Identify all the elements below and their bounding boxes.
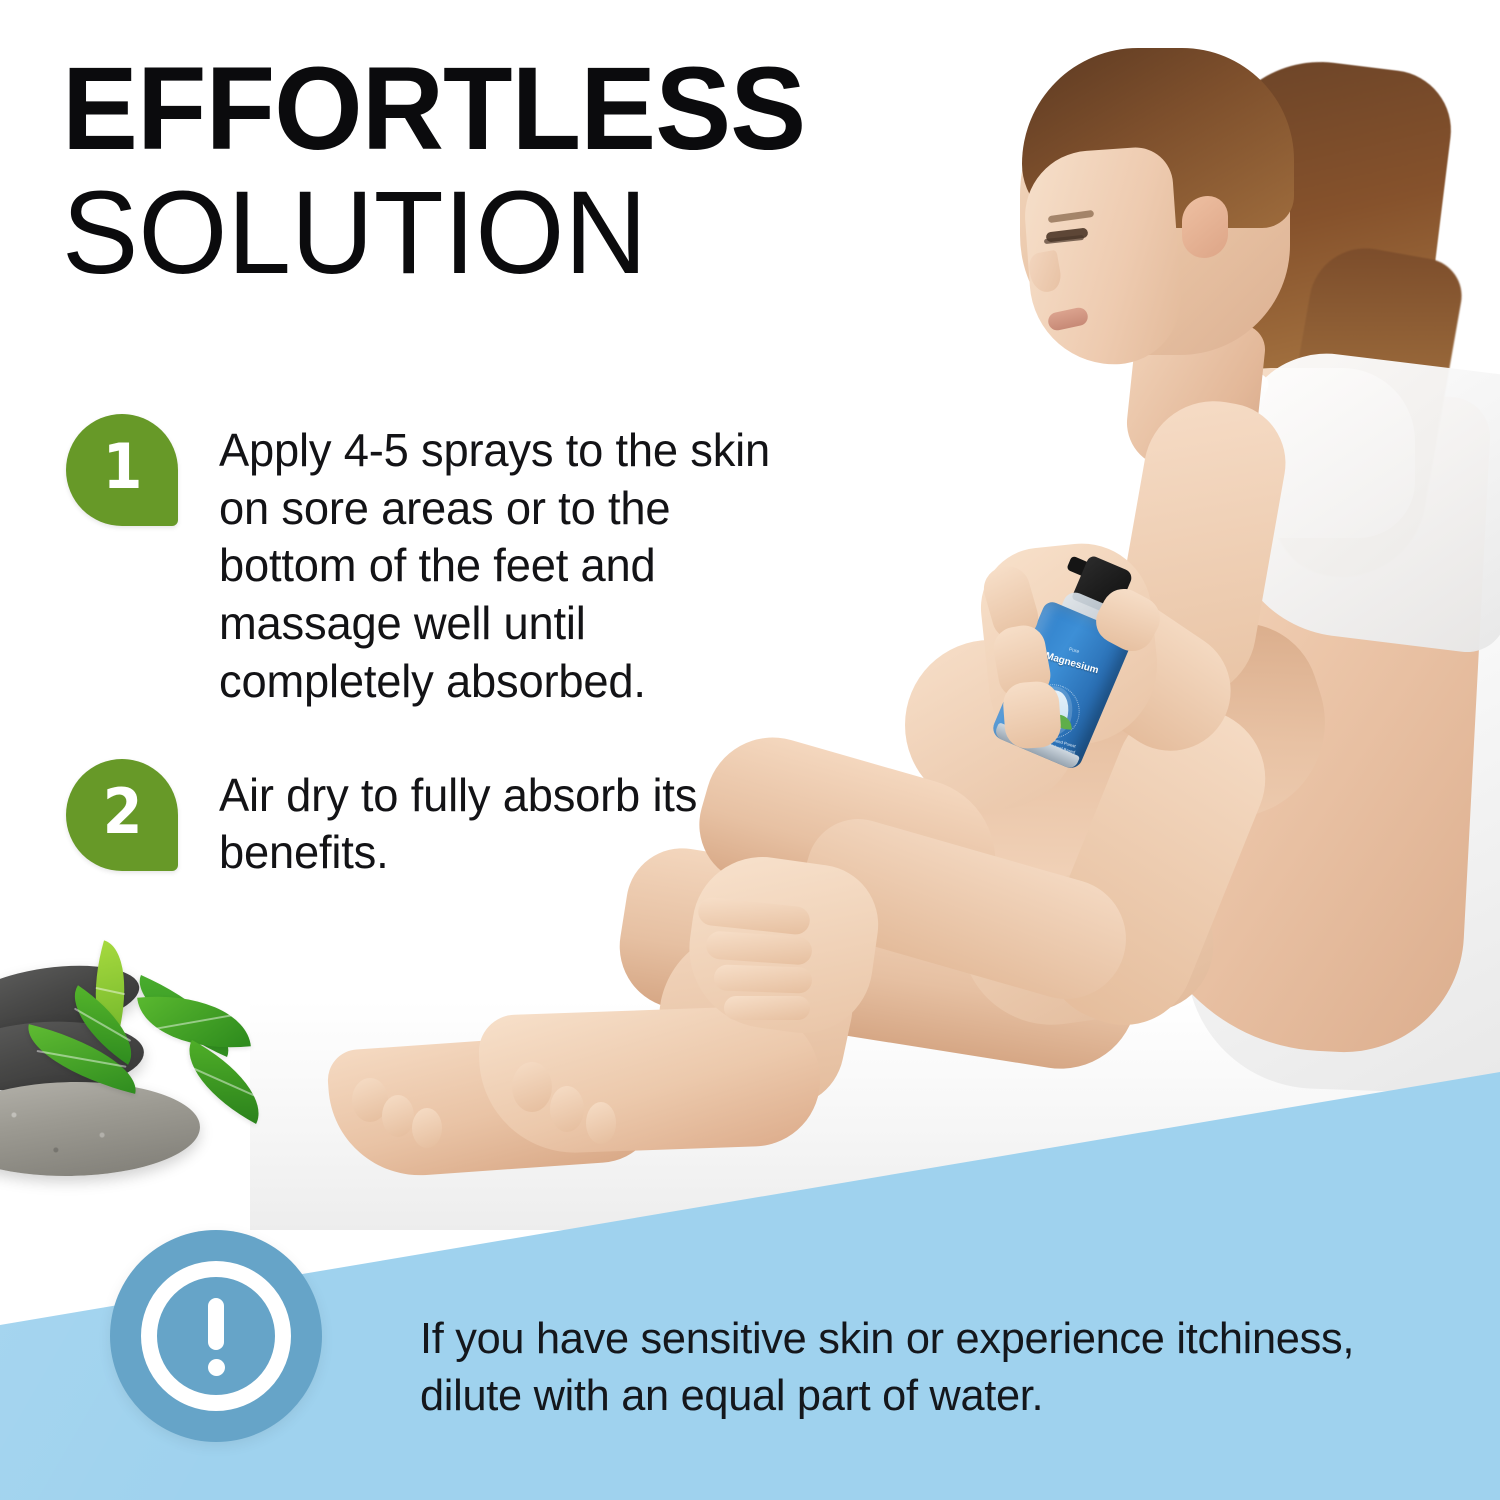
- model-eyelash: [1044, 235, 1084, 244]
- model-hair-back: [1167, 49, 1458, 544]
- caution-text: If you have sensitive skin or experience…: [420, 1310, 1435, 1424]
- bottle-neck: [1056, 589, 1126, 645]
- model-finger: [705, 930, 813, 965]
- camisole-strap: [1206, 370, 1271, 490]
- model-foot: [478, 1004, 823, 1156]
- model-toe: [550, 1086, 584, 1132]
- model-face: [1021, 145, 1186, 370]
- headline-line-2: SOLUTION: [62, 174, 993, 292]
- green-leaf: [78, 940, 143, 1043]
- bottle-brand-text: Pure: [1040, 638, 1109, 663]
- dress-fold: [1318, 660, 1352, 1010]
- model-toe: [586, 1102, 616, 1144]
- product-bottle: Pure Magnesium • No Added Ingredients • …: [990, 573, 1146, 771]
- step-item: 1 Apply 4-5 sprays to the skin on sore a…: [66, 414, 826, 711]
- bottle-nozzle: [1066, 555, 1096, 579]
- leaf-icon: [1052, 714, 1073, 730]
- bottle-product-name: Magnesium: [1032, 647, 1112, 680]
- water-drop-icon: [1029, 686, 1074, 736]
- model-finger: [1002, 680, 1062, 750]
- model-ear: [1182, 196, 1228, 258]
- warning-ring: [141, 1261, 291, 1411]
- exclamation-bar: [208, 1298, 224, 1350]
- step-item: 2 Air dry to fully absorb its benefits.: [66, 759, 826, 882]
- model-toe: [512, 1062, 552, 1112]
- model-eyebrow: [1048, 210, 1095, 223]
- model-toe: [412, 1108, 442, 1148]
- green-leaf: [125, 975, 244, 1057]
- model-finger: [714, 964, 813, 993]
- model-neck: [1123, 314, 1268, 477]
- model-upper-arm: [1105, 390, 1295, 710]
- model-forearm: [790, 807, 1140, 1013]
- model-head: [1020, 55, 1290, 355]
- model-torso: [1128, 382, 1492, 1058]
- model-ponytail: [1262, 239, 1467, 590]
- model-hair-top: [1022, 48, 1294, 228]
- exclamation-circle-icon: [110, 1230, 322, 1442]
- model-eye: [1046, 227, 1089, 242]
- model-ankle: [644, 912, 865, 1118]
- bottle-base: [993, 722, 1080, 770]
- model-thumb: [1088, 581, 1167, 659]
- step-number: 2: [103, 781, 143, 843]
- instruction-steps: 1 Apply 4-5 sprays to the skin on sore a…: [66, 414, 826, 882]
- model-camisole: [1214, 343, 1500, 656]
- model-dress: [1182, 614, 1500, 1095]
- bottle-spray-cap: [1071, 554, 1134, 617]
- model-knee: [905, 640, 1080, 810]
- step-number-badge: 1: [66, 414, 178, 526]
- green-leaf: [171, 1040, 276, 1124]
- headline-line-1: EFFORTLESS: [62, 52, 988, 168]
- model-finger: [697, 896, 811, 936]
- headline: EFFORTLESS SOLUTION: [62, 52, 1022, 292]
- zen-stone: [0, 1080, 201, 1178]
- bottle-fine-print: • No Added Ingredients • Listed Purest &…: [1003, 724, 1077, 756]
- step-description: Apply 4-5 sprays to the skin on sore are…: [219, 414, 780, 711]
- bottle-logo-ring: [1017, 676, 1088, 747]
- model-lips: [1047, 306, 1090, 332]
- model-nose: [1027, 250, 1063, 295]
- exclamation-dot: [208, 1359, 225, 1376]
- model-lower-arm: [1024, 684, 1287, 1046]
- model-foot: [326, 1029, 664, 1182]
- model-forearm-upper: [996, 546, 1254, 774]
- step-description: Air dry to fully absorb its benefits.: [219, 759, 780, 882]
- zen-stone: [0, 956, 143, 1043]
- dress-fold: [1232, 701, 1277, 1000]
- model-calf: [948, 814, 1222, 1037]
- green-leaf: [137, 987, 251, 1058]
- model-hand-holding-bottle: [975, 537, 1165, 754]
- step-number: 1: [103, 436, 143, 498]
- model-shoulder: [1175, 368, 1415, 538]
- infographic-canvas: Pure Magnesium • No Added Ingredients • …: [0, 0, 1500, 1500]
- model-toe: [352, 1078, 388, 1122]
- bottle-body: Pure Magnesium • No Added Ingredients • …: [990, 599, 1135, 771]
- step-number-badge: 2: [66, 759, 178, 871]
- model-finger: [979, 561, 1044, 645]
- model-toe: [382, 1095, 414, 1137]
- green-leaf: [19, 1024, 146, 1094]
- zen-stone: [0, 1017, 146, 1097]
- model-thigh: [910, 603, 1349, 907]
- model-finger: [990, 622, 1054, 702]
- model-finger: [724, 996, 810, 1020]
- green-leaf: [57, 985, 150, 1065]
